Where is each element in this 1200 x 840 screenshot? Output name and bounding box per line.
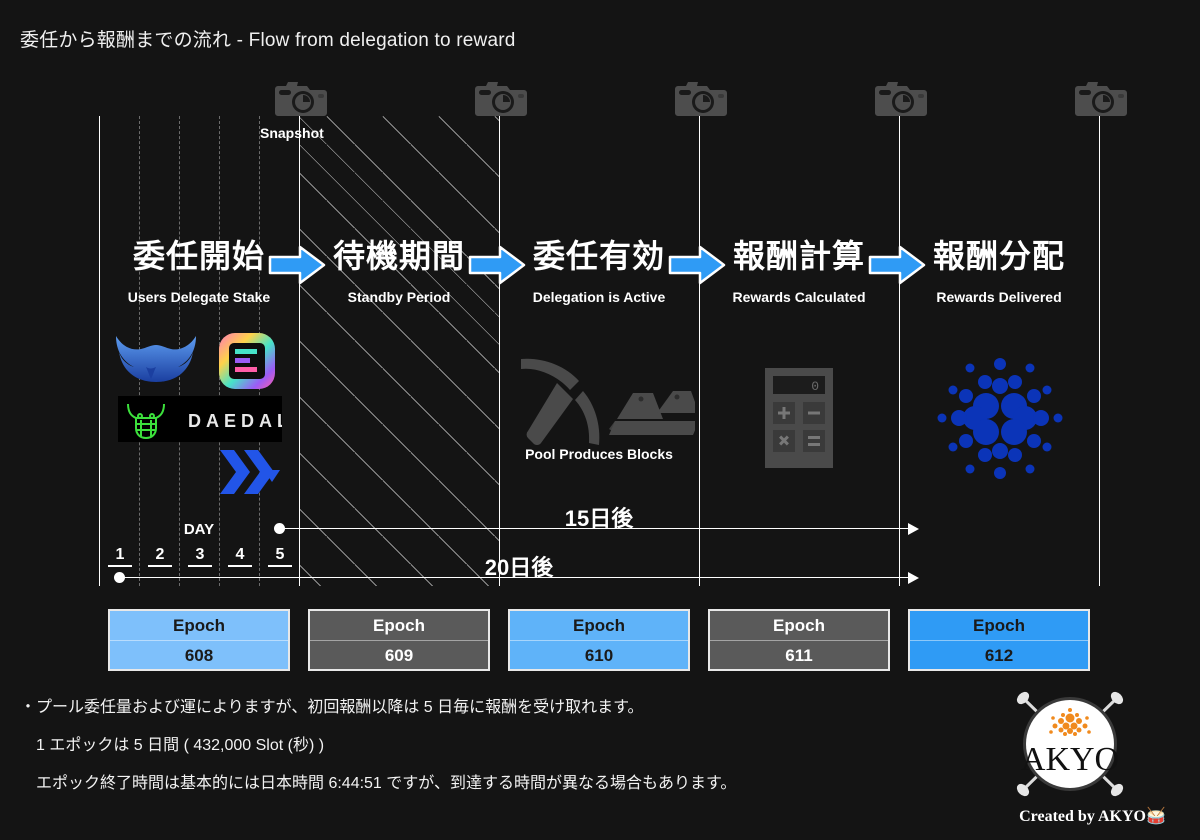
yoroi-wallet-logo xyxy=(112,334,200,390)
camera-icon xyxy=(870,76,928,120)
camera-icon xyxy=(1070,76,1128,120)
flow-arrow-icon xyxy=(468,243,526,287)
duration-line-15days xyxy=(279,528,914,529)
cardano-logo xyxy=(935,348,1065,488)
note-line-1: ・プール委任量および運によりますが、初回報酬以降は 5 日毎に報酬を受け取れます… xyxy=(20,700,1020,716)
epoch-box-611[interactable]: Epoch 611 xyxy=(708,609,890,671)
epoch-title: Epoch xyxy=(310,611,488,641)
daedalus-wordmark: DAEDALUS xyxy=(188,411,282,431)
epoch-title: Epoch xyxy=(510,611,688,641)
note-line-2: 1 エポックは 5 日間 ( 432,000 Slot (秒) ) xyxy=(20,738,1020,754)
day-number-4: 4 xyxy=(228,546,252,567)
epoch-box-610[interactable]: Epoch 610 xyxy=(508,609,690,671)
eternl-wallet-logo xyxy=(218,332,276,390)
standby-hatch-band xyxy=(299,116,499,586)
stage-title-en: Users Delegate Stake xyxy=(99,289,299,305)
stage-title-jp: 報酬分配 xyxy=(899,240,1099,272)
daedalus-wallet-logo: DAEDALUS xyxy=(118,396,282,442)
stage-title-en: Rewards Delivered xyxy=(899,289,1099,305)
epoch-title: Epoch xyxy=(710,611,888,641)
flow-arrow-icon xyxy=(268,243,326,287)
credit-label: Created by AKYO xyxy=(1019,808,1146,825)
flow-diagram: Snapshot xyxy=(0,0,1200,690)
epoch-number: 612 xyxy=(910,641,1088,670)
epoch-number: 608 xyxy=(110,641,288,670)
epoch-box-608[interactable]: Epoch 608 xyxy=(108,609,290,671)
calculator-icon: 0 xyxy=(765,368,833,468)
pool-produces-blocks-caption: Pool Produces Blocks xyxy=(499,446,699,462)
epoch-boundary-3 xyxy=(699,116,700,586)
camera-icon xyxy=(670,76,728,120)
drum-icon: 🥁 xyxy=(1146,808,1166,825)
flow-arrow-icon xyxy=(868,243,926,287)
camera-icon xyxy=(470,76,528,120)
flow-arrow-icon xyxy=(668,243,726,287)
note-line-3: エポック終了時間は基本的には日本時間 6:44:51 ですが、到達する時間が異な… xyxy=(20,776,1020,792)
calculator-display: 0 xyxy=(811,379,819,394)
pickaxe-icon xyxy=(521,359,599,445)
lace-wallet-logo xyxy=(218,448,282,500)
duration-line-20days xyxy=(119,577,914,578)
epoch-title: Epoch xyxy=(910,611,1088,641)
day-number-5: 5 xyxy=(268,546,292,567)
day-number-3: 3 xyxy=(188,546,212,567)
epoch-title: Epoch xyxy=(110,611,288,641)
camera-icon xyxy=(270,76,328,120)
akyo-logo-text: AKYO xyxy=(1021,741,1119,778)
snapshot-label: Snapshot xyxy=(260,125,324,141)
credit-text: Created by AKYO🥁 xyxy=(985,806,1200,826)
day-number-2: 2 xyxy=(148,546,172,567)
epoch-boundary-4 xyxy=(899,116,900,586)
diagram-canvas: 委任から報酬までの流れ - Flow from delegation to re… xyxy=(0,0,1200,840)
epoch-box-612[interactable]: Epoch 612 xyxy=(908,609,1090,671)
stage-title-en: Rewards Calculated xyxy=(699,289,899,305)
blocks-icon xyxy=(609,391,695,435)
epoch-number: 611 xyxy=(710,641,888,670)
epoch-boundary-5 xyxy=(1099,116,1100,586)
stage-title-en: Standby Period xyxy=(299,289,499,305)
wallet-logo-group: DAEDALUS xyxy=(100,328,300,508)
stage-title-en: Delegation is Active xyxy=(499,289,699,305)
akyo-logo: AKYO xyxy=(1005,688,1135,800)
notes-block: ・プール委任量および運によりますが、初回報酬以降は 5 日毎に報酬を受け取れます… xyxy=(20,700,1020,814)
epoch-number: 610 xyxy=(510,641,688,670)
duration-arrowhead-20days xyxy=(908,572,919,584)
stage-5: 報酬分配 Rewards Delivered xyxy=(899,240,1099,305)
day-axis-label: DAY xyxy=(179,521,219,538)
epoch-number: 609 xyxy=(310,641,488,670)
epoch-box-609[interactable]: Epoch 609 xyxy=(308,609,490,671)
day-number-1: 1 xyxy=(108,546,132,567)
duration-arrowhead-15days xyxy=(908,523,919,535)
